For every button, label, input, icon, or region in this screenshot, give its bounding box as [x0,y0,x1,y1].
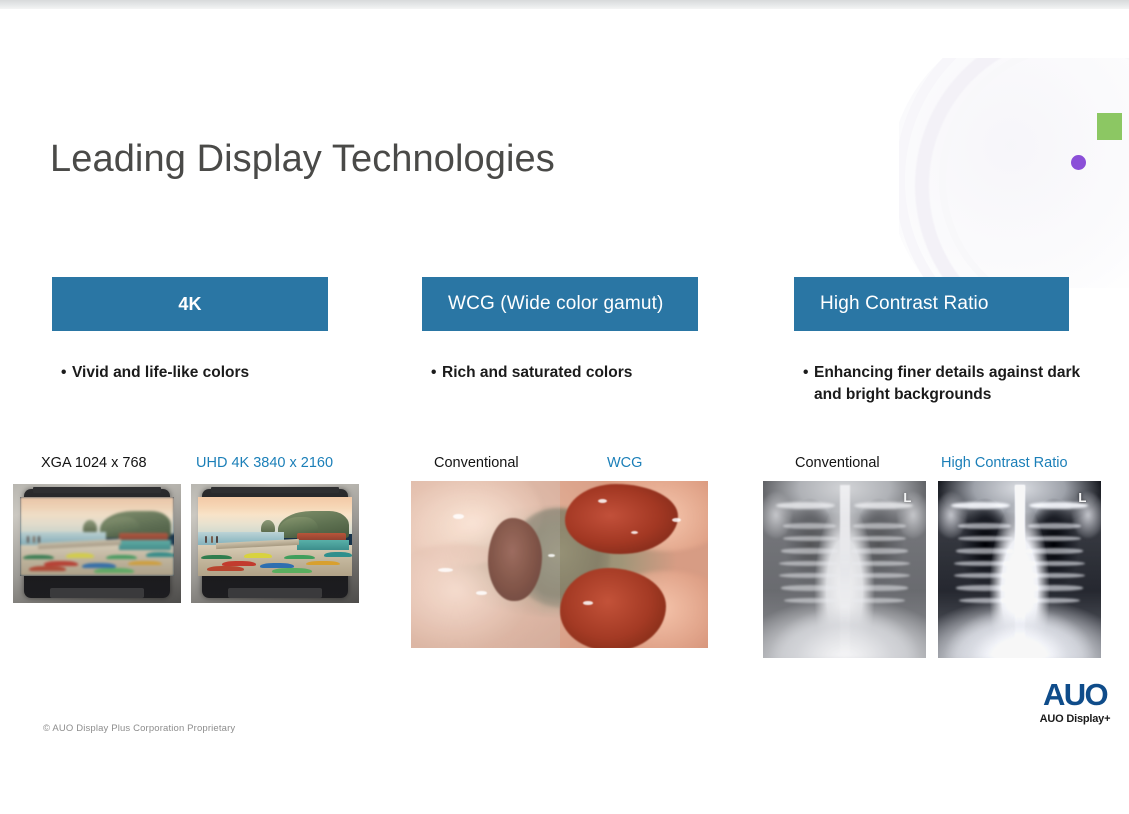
copyright-footer: © AUO Display Plus Corporation Proprieta… [43,723,235,734]
auo-logo-mark: AUO [1032,679,1118,711]
feature-column-contrast: High Contrast Ratio • Enhancing finer de… [794,277,1094,406]
decorative-green-square [1097,113,1122,140]
presentation-slide: Leading Display Technologies 4K • Vivid … [0,0,1129,814]
feature-column-4k: 4K • Vivid and life-like colors [52,277,352,384]
decorative-arcs [899,58,1129,288]
caption-xga: XGA 1024 x 768 [41,454,147,472]
xray-left-marker: L [1078,490,1086,505]
caption-wcg: WCG [607,454,642,472]
feature-bullet-contrast: • Enhancing finer details against dark a… [794,362,1094,406]
caption-conventional-wcg: Conventional [434,454,519,472]
figure-ife-display-uhd [191,484,359,603]
figure-xray-high-contrast: L [938,481,1101,658]
caption-conventional-xray: Conventional [795,454,880,472]
decorative-arc-outer [899,58,1129,288]
decorative-arc-middle [915,58,1129,288]
figure-xray-low-contrast: L [763,481,926,658]
feature-bullet-4k: • Vivid and life-like colors [52,362,352,384]
bullet-text: Rich and saturated colors [442,362,740,384]
top-gray-band [0,0,1129,9]
feature-heading-contrast: High Contrast Ratio [794,277,1069,331]
bullet-text: Enhancing finer details against dark and… [814,362,1094,406]
decorative-arc-inner [939,58,1129,288]
caption-high-contrast-ratio: High Contrast Ratio [941,454,1068,472]
auo-logo-subtitle: AUO Display+ [1032,713,1118,725]
bullet-marker-icon: • [52,362,72,384]
feature-column-wcg: WCG (Wide color gamut) • Rich and satura… [422,277,740,384]
xray-left-marker: L [903,490,911,505]
caption-uhd-4k: UHD 4K 3840 x 2160 [196,454,333,472]
figure-endoscopy-split [411,481,708,648]
decorative-purple-dot [1071,155,1086,170]
auo-logo: AUO AUO Display+ [1032,679,1118,725]
bullet-text: Vivid and life-like colors [72,362,352,384]
bullet-marker-icon: • [422,362,442,384]
feature-heading-wcg: WCG (Wide color gamut) [422,277,698,331]
feature-heading-4k: 4K [52,277,328,331]
figure-ife-display-xga [13,484,181,603]
feature-bullet-wcg: • Rich and saturated colors [422,362,740,384]
bullet-marker-icon: • [794,362,814,406]
page-title: Leading Display Technologies [50,134,555,184]
decorative-shade [899,58,1129,288]
